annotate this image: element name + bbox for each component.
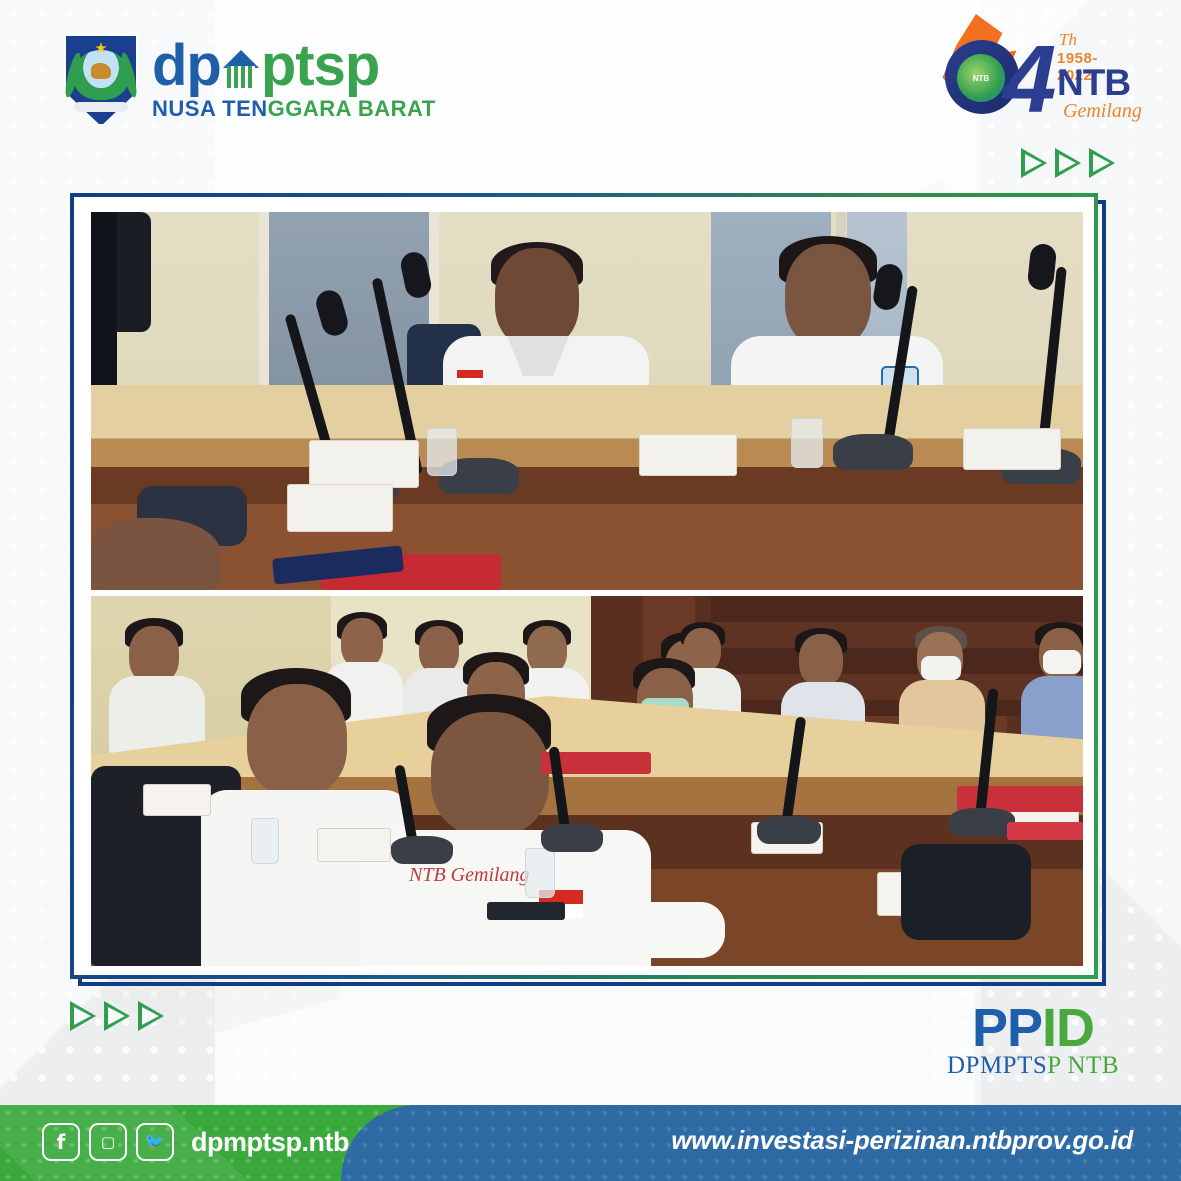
meeting-room-speaker-photo: EBK❮ xyxy=(91,212,1083,590)
red-notebook xyxy=(1007,822,1083,840)
anniversary-tagline: Gemilang xyxy=(1063,100,1142,123)
foreground-hand xyxy=(91,518,221,590)
play-triangle-icon xyxy=(70,1001,96,1031)
mobile-phone xyxy=(487,902,565,920)
ppid-sub-green: P NTB xyxy=(1047,1052,1119,1079)
dpmptsp-logo: ★ dp ptsp NUSA TENGGARA BARAT xyxy=(64,34,436,126)
table-box xyxy=(143,784,211,816)
participant-with-mask xyxy=(1021,622,1083,752)
play-triangle-icon xyxy=(1021,148,1047,178)
face-mask xyxy=(921,656,961,680)
photo-collage: EBK❮ xyxy=(91,212,1083,966)
building-house-icon xyxy=(219,44,263,88)
microphone-base xyxy=(949,808,1015,836)
meeting-room-wide-photo: NTB Gemilang xyxy=(91,596,1083,966)
drinking-glass xyxy=(251,818,279,864)
ppid-main-blue: PP xyxy=(972,998,1042,1058)
drinking-glass xyxy=(791,418,823,468)
social-handle: dpmptsp.ntb xyxy=(191,1127,349,1158)
microphone-base xyxy=(541,824,603,852)
anniversary-province: NTB xyxy=(1057,64,1130,101)
arrow-group-bottom xyxy=(70,1001,164,1031)
ntb-provincial-crest-icon: ★ xyxy=(64,34,138,126)
participant xyxy=(109,618,205,748)
shirt-text: NTB Gemilang xyxy=(409,864,530,887)
play-triangle-icon xyxy=(1089,148,1115,178)
poster-header: ★ dp ptsp NUSA TENGGARA BARAT NTB xyxy=(0,0,1181,190)
poster-footer: f ▢ 🐦 dpmptsp.ntb www.investasi-perizina… xyxy=(0,1105,1181,1181)
anniversary-ordinal: Th xyxy=(1059,30,1077,50)
social-media-group: f ▢ 🐦 dpmptsp.ntb xyxy=(42,1123,349,1161)
drinking-glass xyxy=(427,428,457,476)
microphone-base xyxy=(757,816,821,844)
drinking-glass xyxy=(525,848,555,898)
table-box xyxy=(639,434,737,476)
wordmark-subtitle-part2: GGARA BARAT xyxy=(268,96,436,122)
play-triangle-icon xyxy=(138,1001,164,1031)
play-triangle-icon xyxy=(104,1001,130,1031)
wordmark-dp: dp xyxy=(152,38,221,93)
indonesia-flag-patch-icon xyxy=(457,370,483,386)
ntb-tourism-emblem-icon: NTB xyxy=(957,54,1005,102)
ntb-anniversary-logo: NTB 4 Th 1958-2022 NTB Gemilang xyxy=(931,14,1121,144)
arrow-group-top xyxy=(1021,148,1115,178)
ppid-sub-blue: DPMPTS xyxy=(947,1052,1047,1079)
microphone-base xyxy=(391,836,453,864)
face-mask xyxy=(1043,650,1081,674)
emblem-label: NTB xyxy=(973,74,989,83)
ppid-logo: PPID DPMPTSP NTB xyxy=(947,1004,1119,1080)
microphone-base xyxy=(833,434,913,470)
wordmark-ptsp: ptsp xyxy=(261,38,379,93)
website-url[interactable]: www.investasi-perizinan.ntbprov.go.id xyxy=(671,1125,1133,1156)
dpmptsp-wordmark: dp ptsp NUSA TENGGARA BARAT xyxy=(152,38,436,121)
facebook-icon[interactable]: f xyxy=(42,1123,80,1161)
table-box xyxy=(309,440,419,488)
poster-canvas: ★ dp ptsp NUSA TENGGARA BARAT NTB xyxy=(0,0,1181,1181)
arm xyxy=(585,902,725,958)
instagram-icon[interactable]: ▢ xyxy=(89,1123,127,1161)
play-triangle-icon xyxy=(1055,148,1081,178)
table-box xyxy=(963,428,1061,470)
table-box xyxy=(317,828,391,862)
ppid-main-green: ID xyxy=(1042,998,1094,1058)
table-box xyxy=(287,484,393,532)
wordmark-subtitle-part1: NUSA TEN xyxy=(152,96,268,122)
twitter-icon[interactable]: 🐦 xyxy=(136,1123,174,1161)
backpack xyxy=(901,844,1031,940)
